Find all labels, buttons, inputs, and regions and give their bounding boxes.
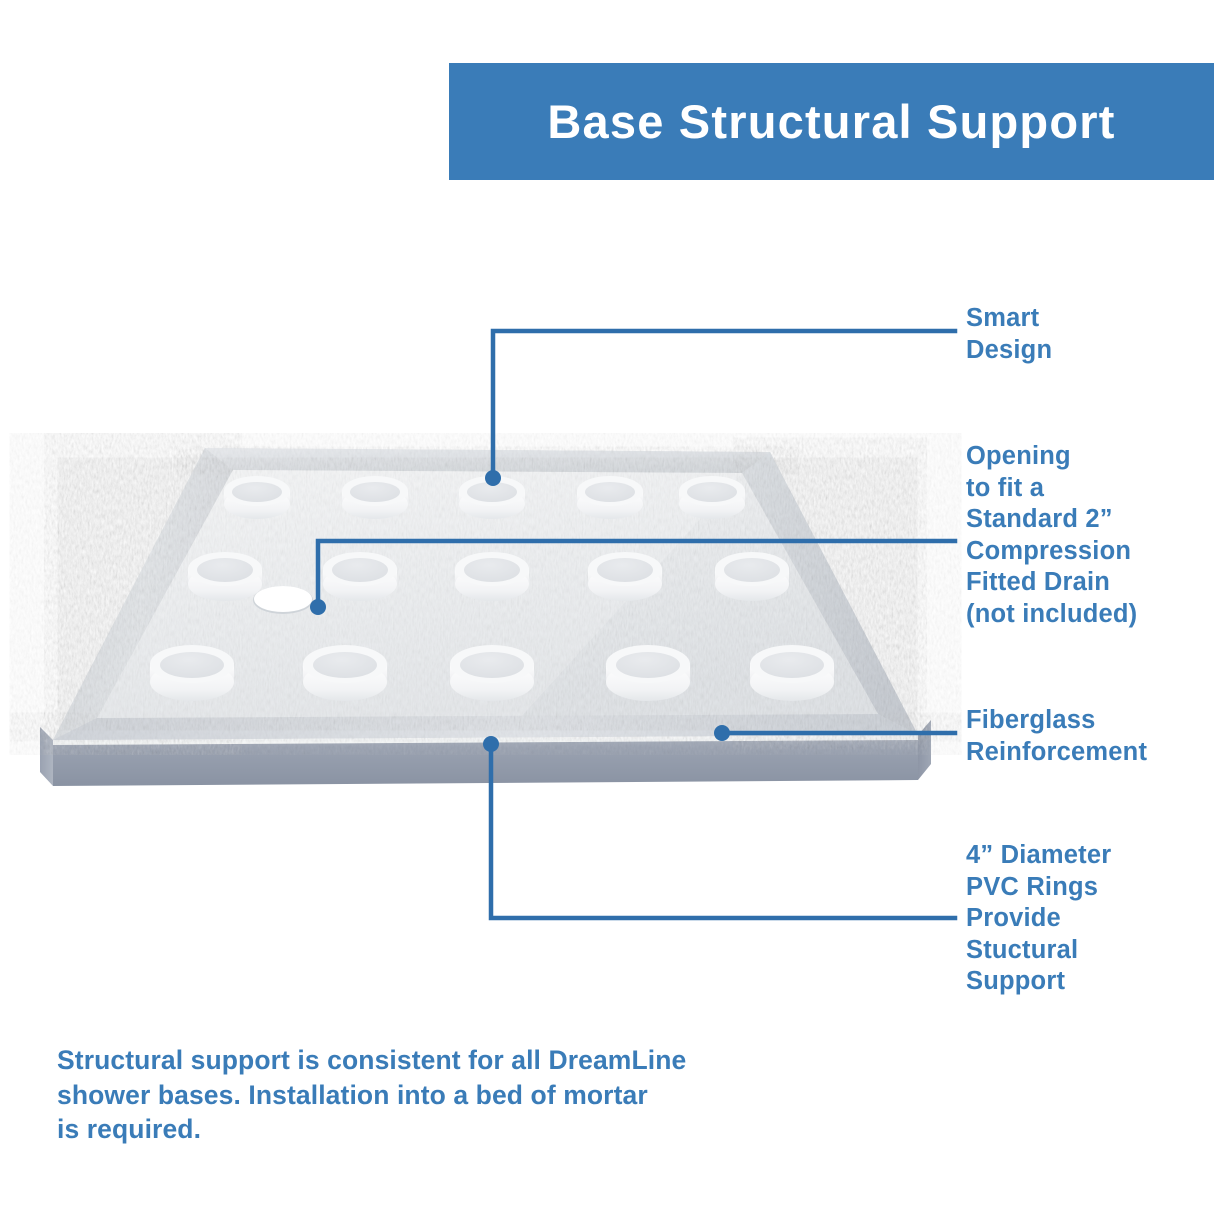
callout-label-drain-opening: Opening to fit a Standard 2” Compression… <box>966 441 1137 630</box>
callout-label-smart-design: Smart Design <box>966 303 1052 366</box>
page-title: Base Structural Support <box>547 98 1115 145</box>
callout-label-fiberglass-reinforcement: Fiberglass Reinforcement <box>966 705 1147 768</box>
diagram-canvas: Base Structural Support Smart Design Ope… <box>0 0 1214 1214</box>
leader-dot-drain-opening <box>310 599 326 615</box>
leader-dot-fiberglass <box>714 725 730 741</box>
leader-line-drain-opening <box>318 541 955 607</box>
leader-dot-pvc-rings <box>483 736 499 752</box>
leader-dot-smart-design <box>485 470 501 486</box>
footnote-text: Structural support is consistent for all… <box>57 1043 817 1147</box>
leader-line-smart-design <box>493 331 955 478</box>
header-banner: Base Structural Support <box>449 63 1214 180</box>
leader-line-pvc-rings <box>491 744 955 918</box>
callout-label-pvc-rings: 4” Diameter PVC Rings Provide Stuctural … <box>966 840 1111 998</box>
